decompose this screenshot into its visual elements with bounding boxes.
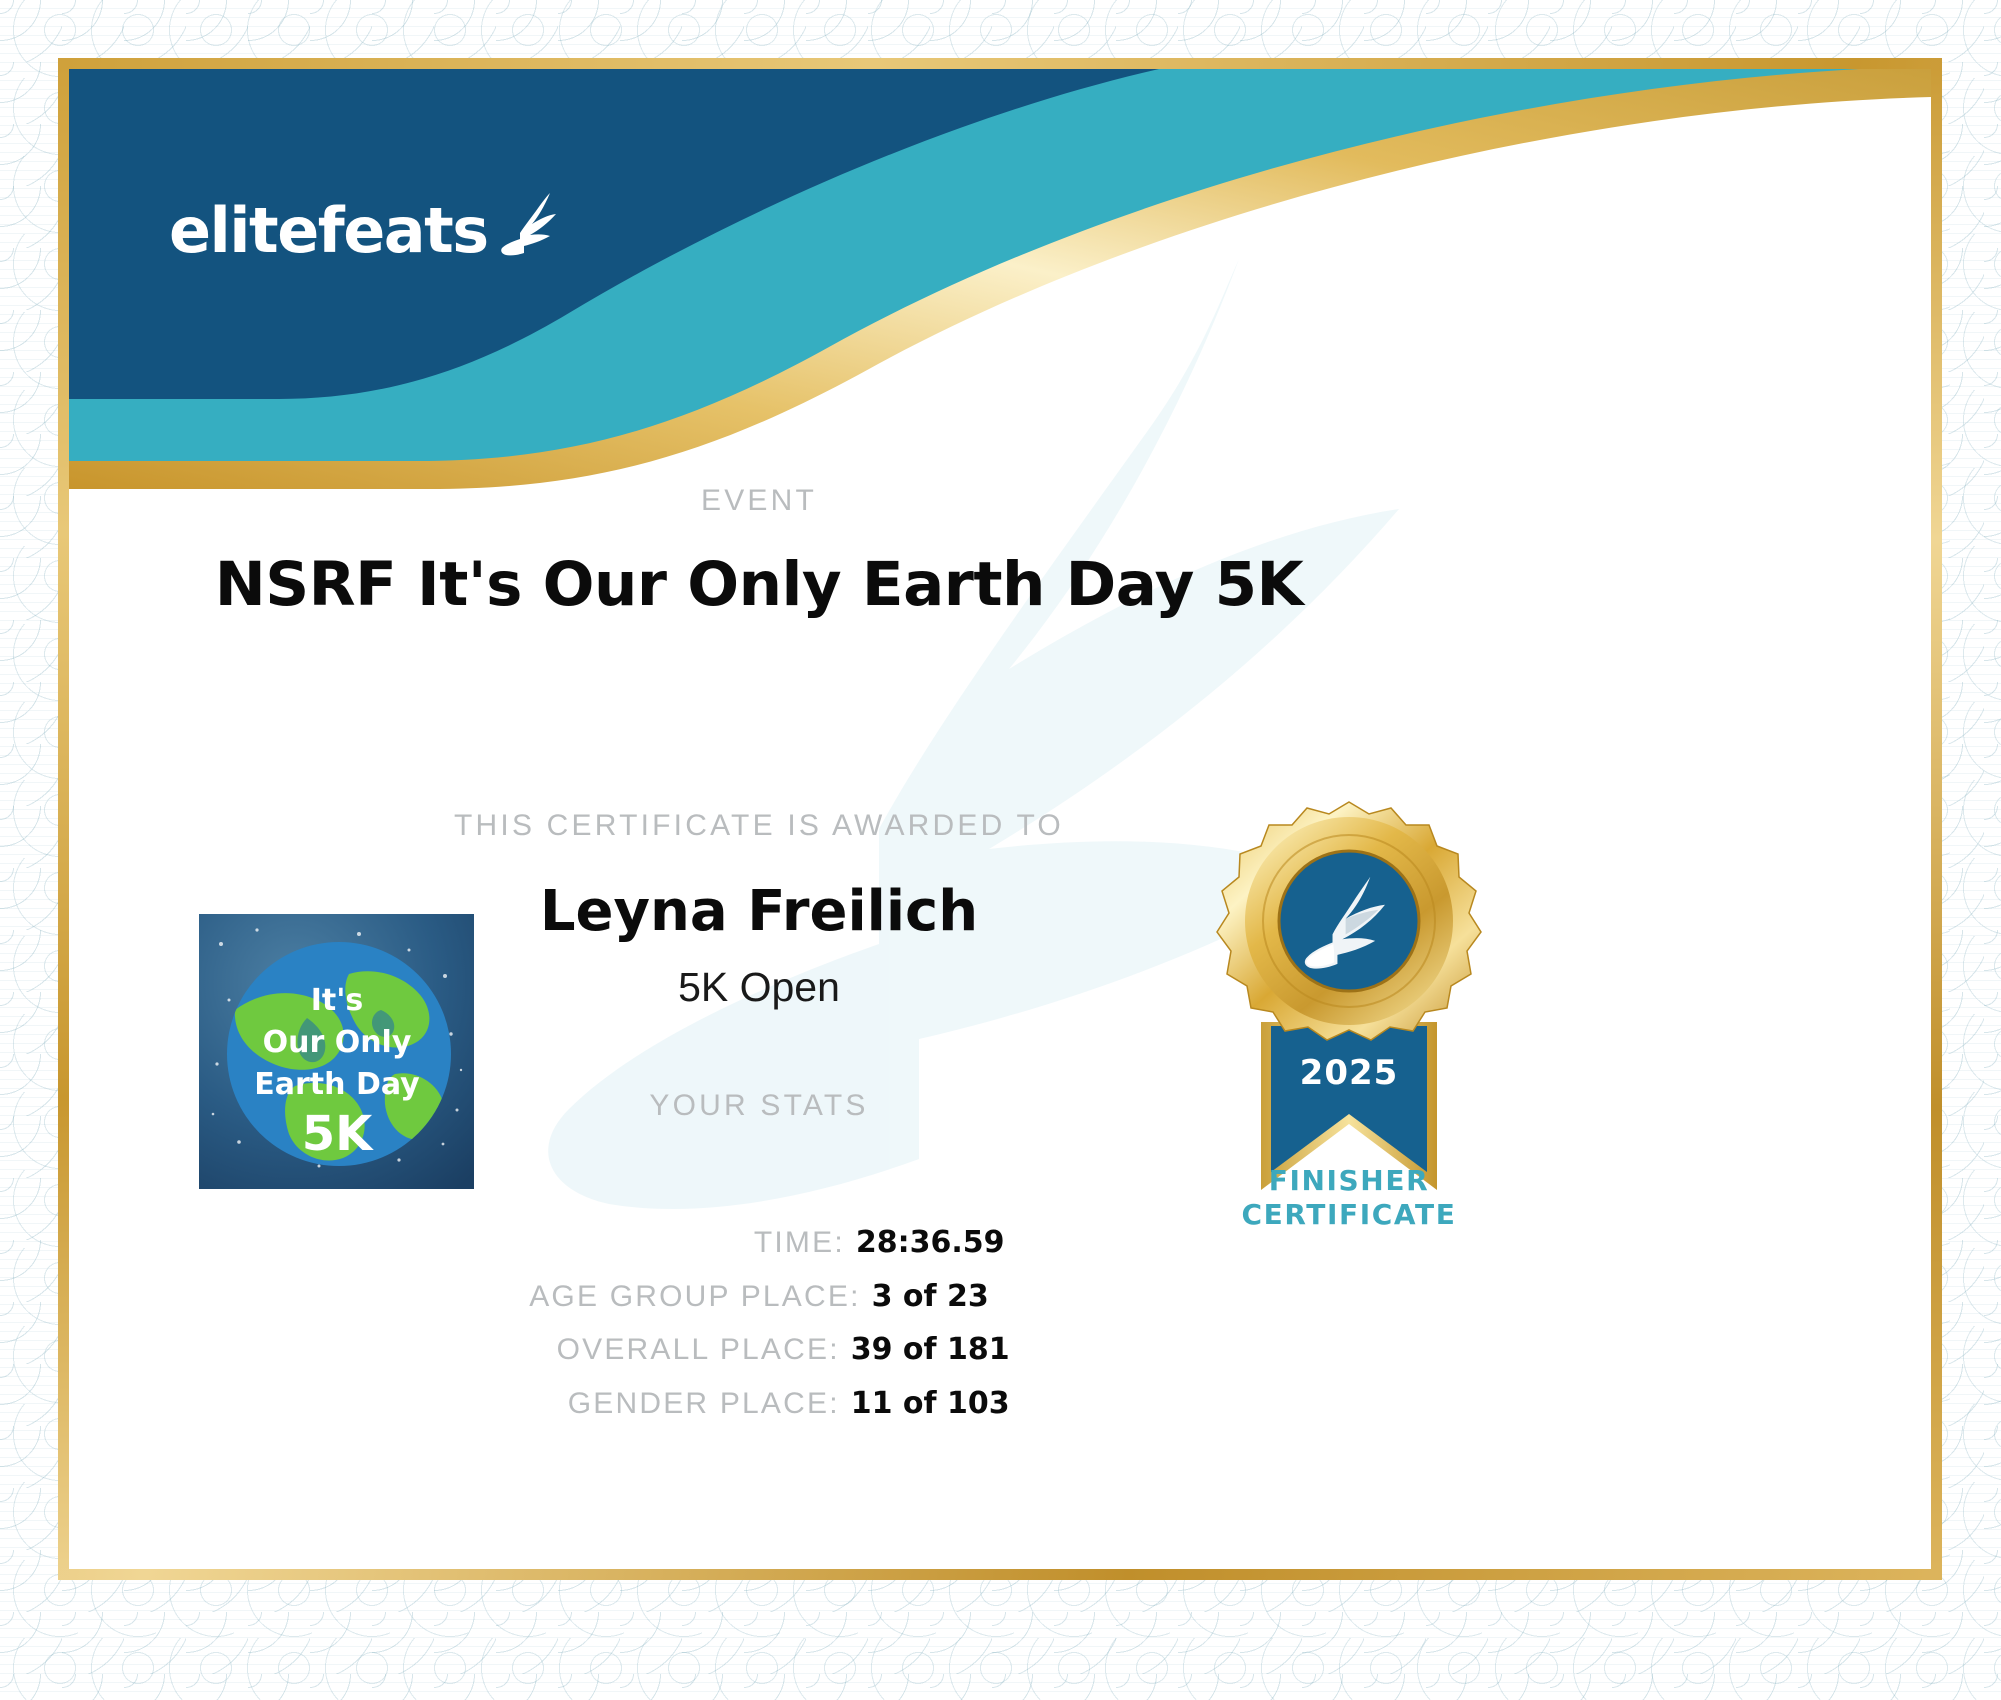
stat-label: TIME: bbox=[513, 1224, 844, 1262]
stat-label: OVERALL PLACE: bbox=[508, 1331, 839, 1369]
event-label: EVENT bbox=[69, 484, 1449, 518]
stat-value: 39 of 181 bbox=[851, 1331, 1010, 1369]
stat-label: AGE GROUP PLACE: bbox=[529, 1278, 860, 1316]
stat-label: GENDER PLACE: bbox=[508, 1385, 839, 1423]
stat-row-gender-place: GENDER PLACE: 11 of 103 bbox=[69, 1385, 1449, 1423]
event-title: NSRF It's Our Only Earth Day 5K bbox=[69, 549, 1449, 620]
medal-caption-line-1: FINISHER bbox=[1159, 1164, 1539, 1198]
medal-year: 2025 bbox=[1300, 1053, 1399, 1093]
medal-caption: FINISHER CERTIFICATE bbox=[1159, 1164, 1539, 1232]
logo-line-3: Earth Day bbox=[254, 1067, 420, 1102]
certificate-card: elitefeats EVENT NSRF It's bbox=[69, 69, 1931, 1569]
stat-value: 11 of 103 bbox=[851, 1385, 1010, 1423]
stat-row-age-group-place: AGE GROUP PLACE: 3 of 23 bbox=[69, 1278, 1449, 1316]
medal-ribbon-banner bbox=[1271, 1026, 1427, 1172]
stat-row-overall-place: OVERALL PLACE: 39 of 181 bbox=[69, 1331, 1449, 1369]
medal-caption-line-2: CERTIFICATE bbox=[1159, 1198, 1539, 1232]
logo-line-1: It's bbox=[311, 983, 364, 1018]
stat-value: 3 of 23 bbox=[872, 1278, 989, 1316]
stat-value: 28:36.59 bbox=[856, 1224, 1005, 1262]
logo-line-4: 5K bbox=[302, 1106, 374, 1162]
certificate-content: EVENT NSRF It's Our Only Earth Day 5K TH… bbox=[69, 69, 1931, 1569]
certificate-page-background: elitefeats EVENT NSRF It's bbox=[0, 0, 2001, 1700]
logo-line-2: Our Only bbox=[263, 1025, 412, 1060]
event-logo-image: It's Our Only Earth Day 5K bbox=[199, 914, 474, 1189]
stats-list: TIME: 28:36.59 AGE GROUP PLACE: 3 of 23 … bbox=[69, 1224, 1449, 1438]
